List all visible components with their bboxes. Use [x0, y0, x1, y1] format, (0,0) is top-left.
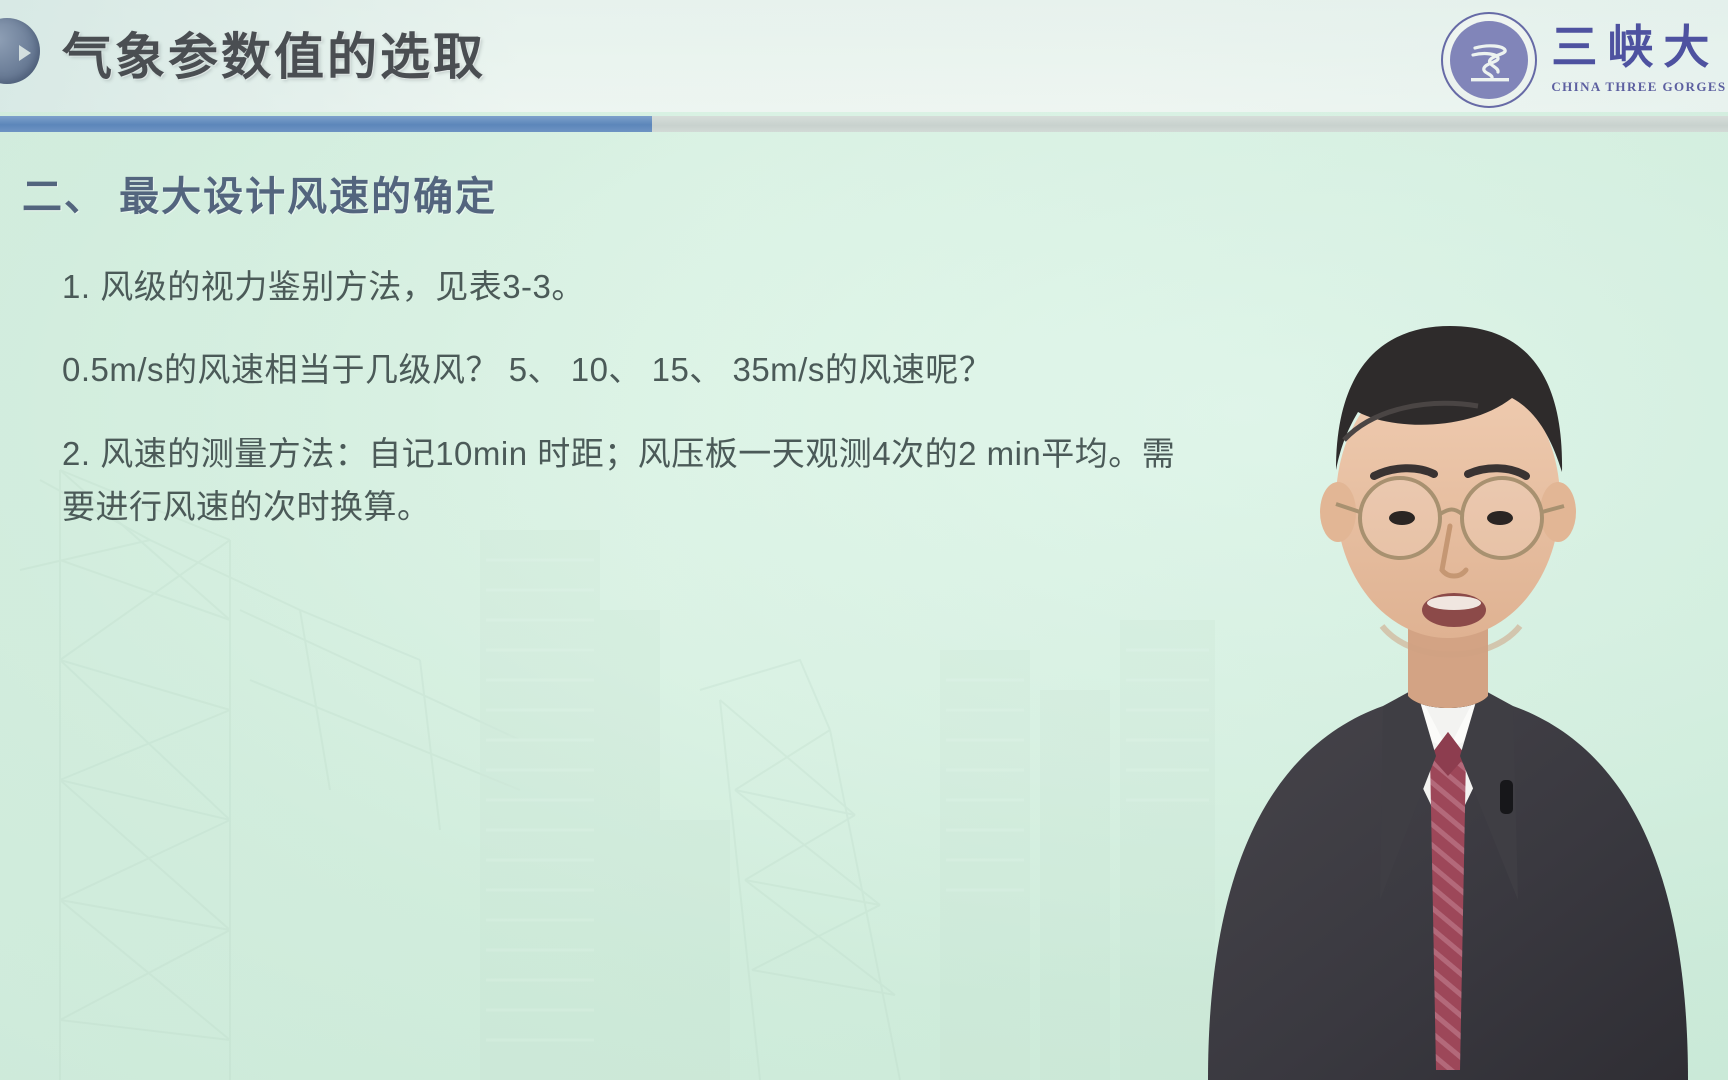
- university-seal-icon: [1441, 12, 1537, 108]
- header-divider-gray: [652, 116, 1728, 132]
- slide-content: 二、 最大设计风速的确定 1. 风级的视力鉴别方法，见表3-3。 0.5m/s的…: [0, 132, 1260, 534]
- header-divider-blue: [0, 116, 652, 132]
- paragraph-1: 1. 风级的视力鉴别方法，见表3-3。: [62, 260, 1182, 313]
- university-name-block: 三峡大 CHINA THREE GORGES U: [1551, 25, 1728, 95]
- header-divider: [0, 116, 1728, 132]
- lecture-slide-frame: 气象参数值的选取 三峡大 CHINA THREE GORGES U: [0, 0, 1728, 1080]
- university-name-zh: 三峡大: [1551, 25, 1728, 71]
- university-logo: 三峡大 CHINA THREE GORGES U: [1441, 14, 1728, 106]
- section-heading: 二、 最大设计风速的确定: [22, 164, 1260, 222]
- paragraph-3: 2. 风速的测量方法：自记10min 时距；风压板一天观测4次的2 min平均。…: [62, 427, 1202, 534]
- slide-header: 气象参数值的选取 三峡大 CHINA THREE GORGES U: [0, 0, 1728, 112]
- page-title: 气象参数值的选取: [62, 17, 486, 89]
- paragraph-2: 0.5m/s的风速相当于几级风？ 5、 10、 15、 35m/s的风速呢？: [62, 343, 1182, 396]
- university-name-en: CHINA THREE GORGES U: [1551, 79, 1728, 95]
